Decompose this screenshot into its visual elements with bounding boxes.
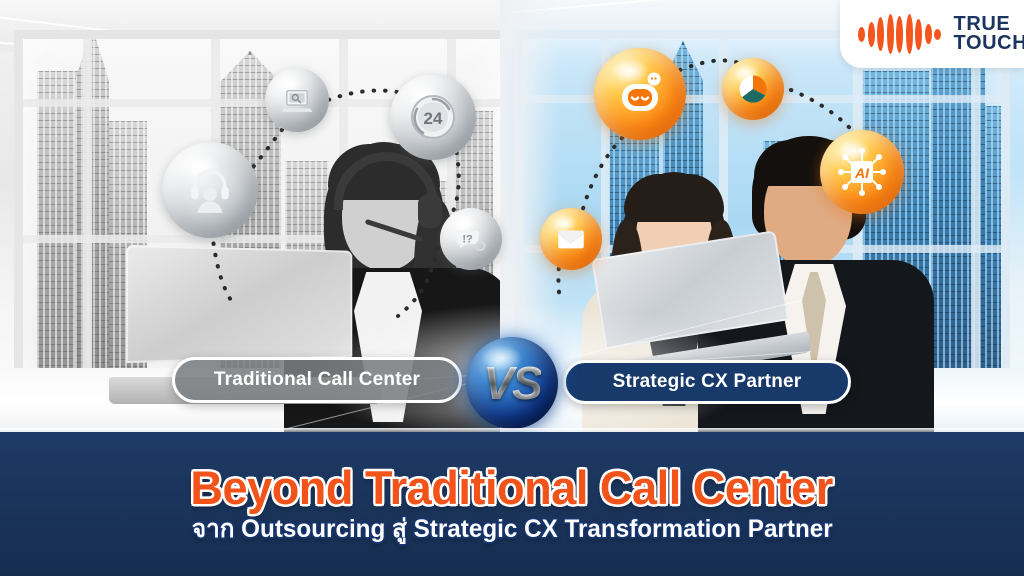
chatbot-icon: [594, 48, 686, 140]
pie-chart-glyph: [735, 71, 771, 107]
pie-chart-icon: [722, 58, 784, 120]
page-subtitle: จาก Outsourcing สู่ Strategic CX Transfo…: [192, 514, 833, 544]
brand-logo[interactable]: TRUE TOUCH: [840, 0, 1024, 68]
headset-agent-glyph: [185, 165, 235, 215]
brand-logo-line2: TOUCH: [954, 34, 1024, 53]
clock-24h-icon: 24: [390, 74, 476, 160]
headset-agent-icon: [162, 142, 258, 238]
page-title: Beyond Traditional Call Center: [191, 464, 833, 513]
label-pill-strategic[interactable]: Strategic CX Partner: [563, 360, 851, 404]
true-touch-heartbeat-wave-icon: [858, 14, 944, 54]
laptop-glyph: [280, 83, 314, 117]
label-pill-strategic-text: Strategic CX Partner: [613, 371, 802, 393]
label-pill-traditional[interactable]: Traditional Call Center: [172, 357, 462, 403]
svg-text:!?: !?: [462, 233, 473, 245]
chatbot-glyph: [613, 67, 667, 121]
poster-canvas: 24 !?: [0, 0, 1024, 576]
envelope-glyph: [554, 222, 588, 256]
chat-question-glyph: !?: [454, 222, 488, 256]
brand-logo-text: TRUE TOUCH: [954, 15, 1024, 53]
envelope-icon: [540, 208, 602, 270]
ai-chip-glyph: AI: [834, 144, 890, 200]
band-top-edge: [0, 428, 1024, 432]
laptop-icon: [265, 68, 329, 132]
vs-badge: VS: [466, 337, 558, 429]
headline-band: Beyond Traditional Call Center จาก Outso…: [0, 432, 1024, 576]
ai-chip-icon: AI: [820, 130, 904, 214]
chat-question-icon: !?: [440, 208, 502, 270]
svg-text:AI: AI: [854, 165, 870, 181]
svg-text:24: 24: [424, 109, 443, 128]
clock-24h-glyph: 24: [407, 91, 459, 143]
label-pill-traditional-text: Traditional Call Center: [214, 369, 420, 391]
